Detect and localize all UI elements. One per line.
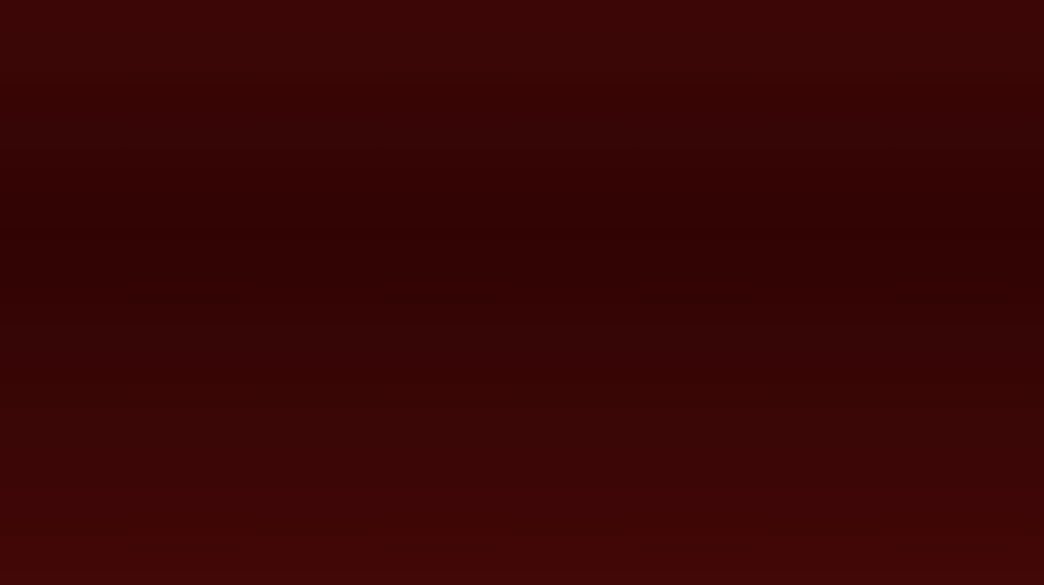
campfire-glow xyxy=(594,397,704,471)
walkway-edge-beam xyxy=(14,489,344,497)
class-name-daoshi: 道士： xyxy=(90,150,156,172)
class-desc-zhanshi: 通过打怪可获得武兽.极大的剖厕了战士打怪慢的问题. xyxy=(164,244,682,266)
class-desc-daoshi: 生存能力极强,出生带双麒麟,通过打怪可晋升为月灵,最多可带6个月灵. xyxy=(164,150,839,172)
campfire xyxy=(880,441,906,471)
game-subtitle: 这是一款精心制作的三职业特色复古版本游戏 xyxy=(14,90,1030,119)
campfire xyxy=(626,425,648,459)
campfire-glow xyxy=(484,403,564,461)
ground-vignette xyxy=(14,503,1030,571)
banner-content-area: “天佑传奇” 这是一款精心制作的三职业特色复古版本游戏 道士： 生存能力极强,出… xyxy=(14,14,1030,571)
class-row-fashi: 法师： 通过打怪可以携带骷髅王,天生自带隔位攻击.所向披靡. xyxy=(90,197,990,219)
class-row-zhanshi: 战士： 通过打怪可获得武兽.极大的剖厕了战士打怪慢的问题. xyxy=(90,244,990,266)
game-title: “天佑传奇” xyxy=(14,36,1030,86)
class-desc-fashi: 通过打怪可以携带骷髅王,天生自带隔位攻击.所向披靡. xyxy=(164,197,688,219)
campfire xyxy=(510,425,524,451)
class-description-list: 道士： 生存能力极强,出生带双麒麟,通过打怪可晋升为月灵,最多可带6个月灵. 法… xyxy=(90,150,990,291)
class-name-fashi: 法师： xyxy=(90,197,156,219)
battlefield-artwork xyxy=(14,276,1030,571)
text-block: “天佑传奇” 这是一款精心制作的三职业特色复古版本游戏 道士： 生存能力极强,出… xyxy=(14,14,1030,314)
class-row-daoshi: 道士： 生存能力极强,出生带双麒麟,通过打怪可晋升为月灵,最多可带6个月灵. xyxy=(90,150,990,172)
class-name-zhanshi: 战士： xyxy=(90,244,156,266)
promo-banner: “天佑传奇” 这是一款精心制作的三职业特色复古版本游戏 道士： 生存能力极强,出… xyxy=(0,0,1044,585)
